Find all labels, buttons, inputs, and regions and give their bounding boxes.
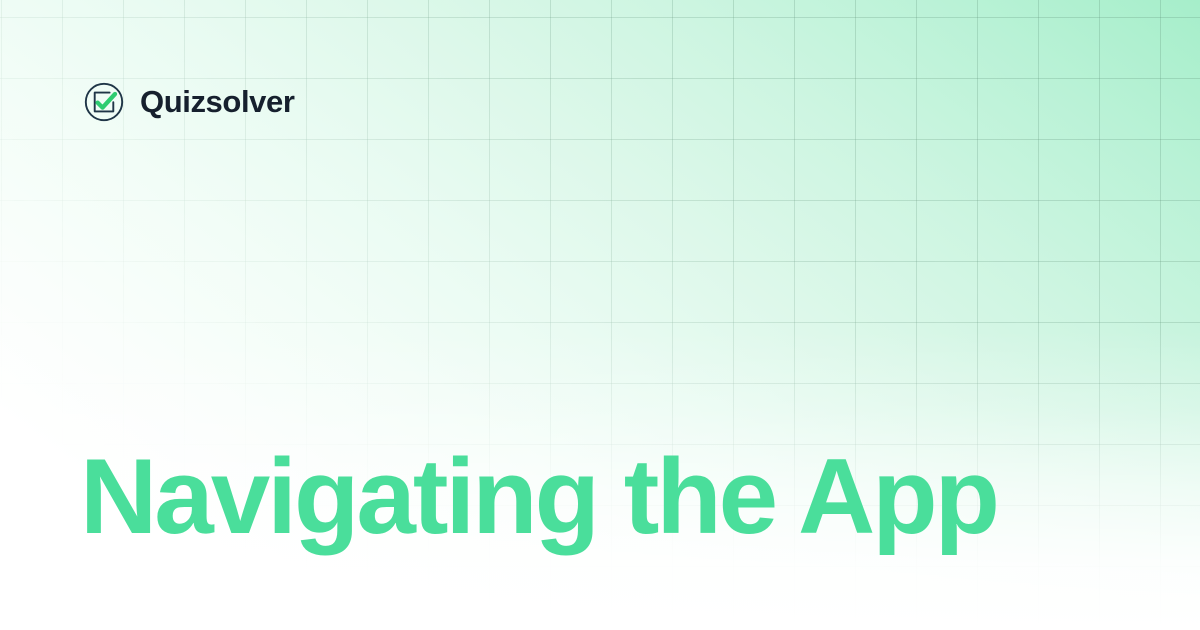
check-square-circle-icon (84, 82, 124, 122)
page-title: Navigating the App (80, 440, 1120, 553)
card-content: Quizsolver Navigating the App (0, 0, 1200, 630)
brand-name: Quizsolver (140, 82, 295, 122)
brand-lockup: Quizsolver (84, 82, 295, 122)
og-card: Quizsolver Navigating the App (0, 0, 1200, 630)
